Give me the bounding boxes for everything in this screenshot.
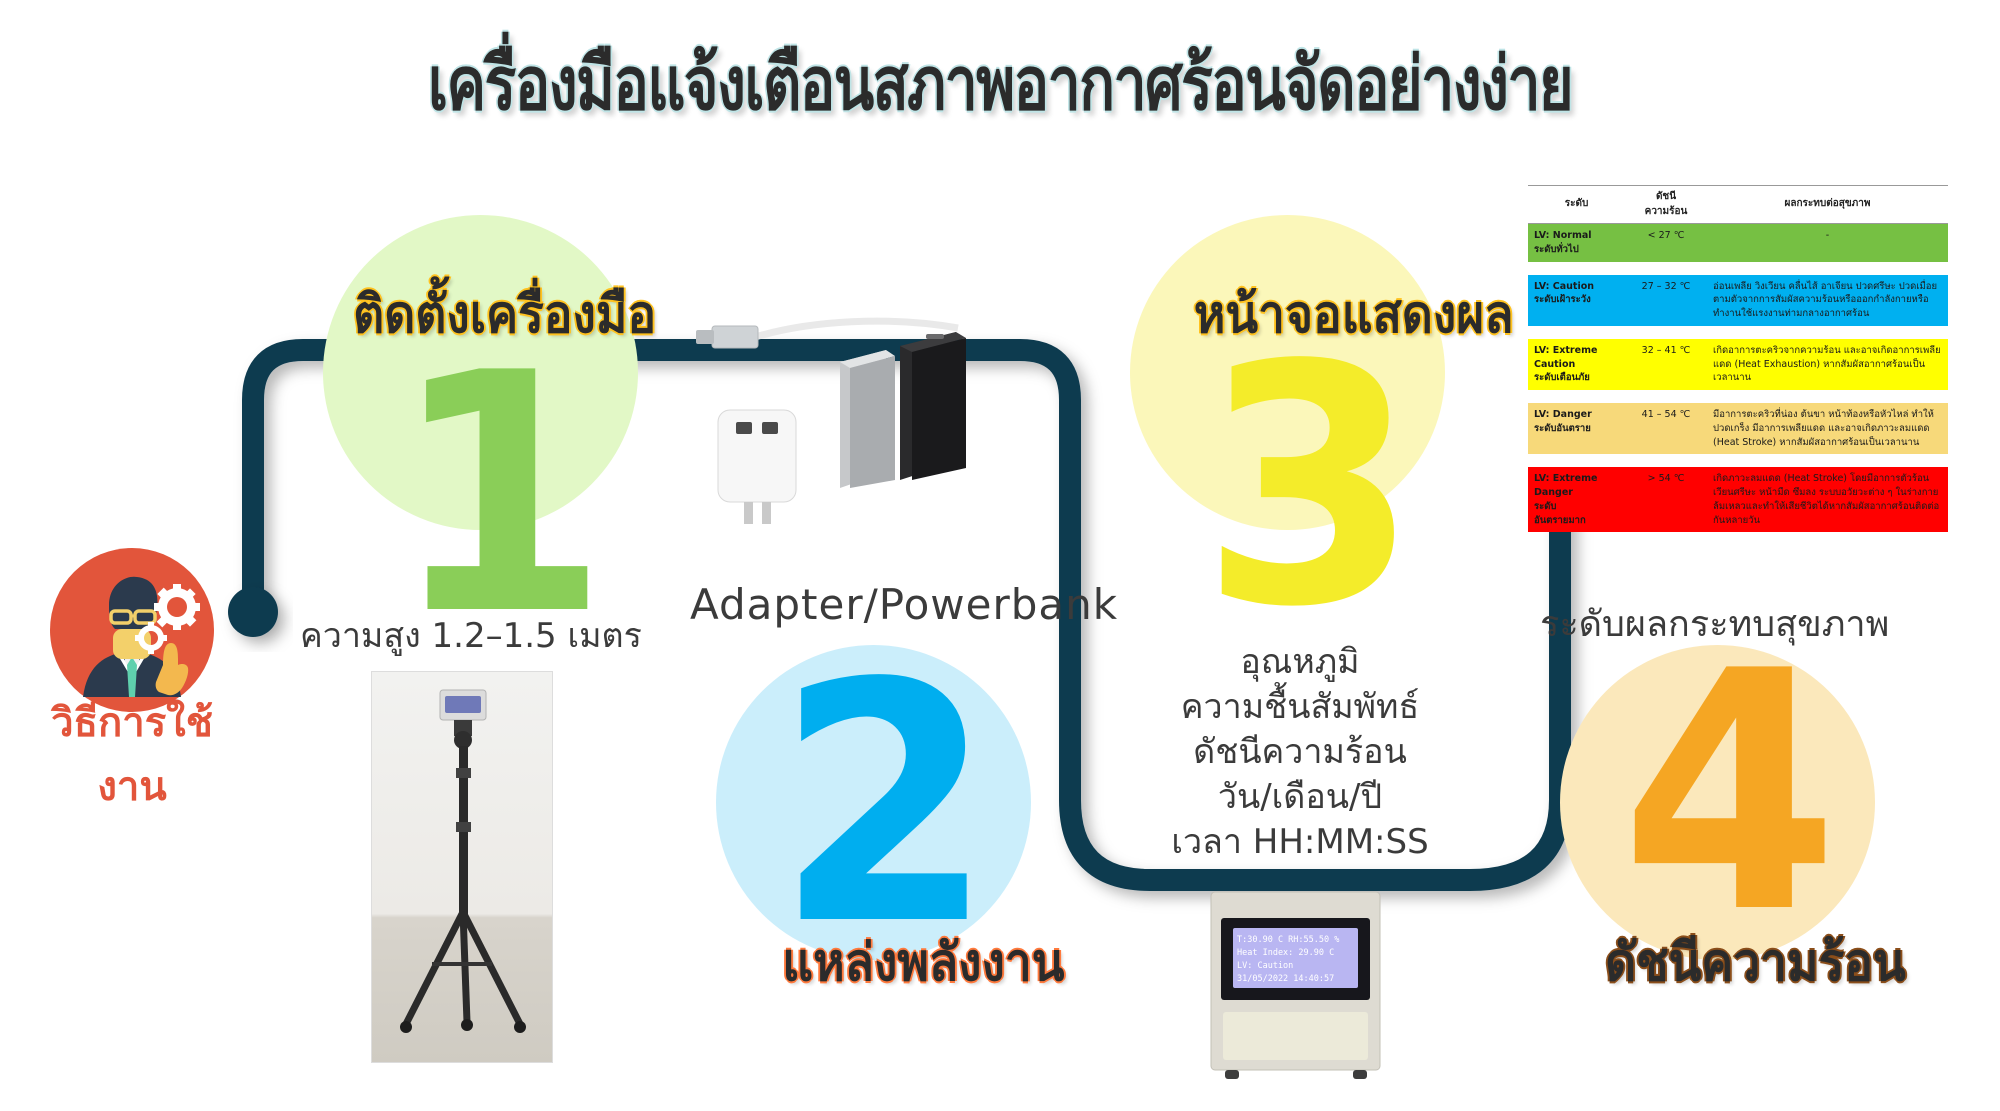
step-1-caption: ความสูง 1.2–1.5 เมตร [300, 608, 642, 662]
table-row: LV: Normal ระดับทั่วไป < 27 ℃ - [1528, 224, 1948, 262]
cell-level: LV: Danger ระดับอันตราย [1528, 403, 1625, 454]
table-row: LV: Danger ระดับอันตราย 41 – 54 ℃ มีอากา… [1528, 403, 1948, 454]
row-separator [1528, 262, 1948, 275]
table-header-row: ระดับ ดัชนี ความร้อน ผลกระทบต่อสุขภาพ [1528, 186, 1948, 224]
device-display-photo: T:30.90 C RH:55.50 % Heat Index: 29.90 C… [1203, 890, 1388, 1085]
step-3-label: หน้าจอแสดงผล [1194, 272, 1514, 355]
page-title: เครื่องมือแจ้งเตือนสภาพอากาศร้อนจัดอย่าง… [200, 24, 1800, 142]
cell-effect: อ่อนเพลีย วิงเวียน คลื่นไส้ อาเจียน ปวดศ… [1707, 275, 1948, 326]
step-3-number: 3 [1201, 322, 1419, 652]
cell-level: LV: Caution ระดับเฝ้าระวัง [1528, 275, 1625, 326]
step-2-caption: Adapter/Powerbank [690, 580, 1118, 629]
table-row: LV: Extreme Caution ระดับเตือนภัย 32 – 4… [1528, 339, 1948, 390]
step-4-caption: ระดับผลกระทบสุขภาพ [1540, 595, 1889, 652]
cell-index: 41 – 54 ℃ [1625, 403, 1707, 454]
display-line-1: T:30.90 C RH:55.50 % [1237, 935, 1339, 945]
cell-index: 27 – 32 ℃ [1625, 275, 1707, 326]
step-4-label: ดัชนีความร้อน [1605, 920, 1906, 1003]
th-effect: ผลกระทบต่อสุขภาพ [1707, 186, 1948, 224]
cell-effect: เกิดภาวะลมแดด (Heat Stroke) โดยมีอาการตั… [1707, 467, 1948, 532]
tripod-photo [372, 672, 552, 1062]
row-separator [1528, 326, 1948, 339]
display-line-3: LV: Caution [1237, 961, 1293, 971]
cell-index: 32 – 41 ℃ [1625, 339, 1707, 390]
step-3-caption: อุณหภูมิ ความชื้นสัมพัทธ์ ดัชนีความร้อน … [1155, 640, 1445, 865]
th-level: ระดับ [1528, 186, 1625, 224]
step-2-label: แหล่งพลังงาน [782, 920, 1064, 1003]
display-line-4: 31/05/2022 14:40:57 [1237, 974, 1334, 984]
cell-effect: เกิดอาการตะคริวจากความร้อน และอาจเกิดอาก… [1707, 339, 1948, 390]
cell-effect: มีอาการตะคริวที่น่อง ต้นขา หน้าท้องหรือห… [1707, 403, 1948, 454]
cell-effect: - [1707, 224, 1948, 262]
cell-index: < 27 ℃ [1625, 224, 1707, 262]
display-line-2: Heat Index: 29.90 C [1237, 948, 1334, 958]
table-row: LV: Extreme Danger ระดับ อันตรายมาก > 54… [1528, 467, 1948, 532]
table-row: LV: Caution ระดับเฝ้าระวัง 27 – 32 ℃ อ่อ… [1528, 275, 1948, 326]
entry-label: วิธีการใช้งาน [22, 690, 242, 818]
cell-level: LV: Normal ระดับทั่วไป [1528, 224, 1625, 262]
cell-level: LV: Extreme Caution ระดับเตือนภัย [1528, 339, 1625, 390]
cell-index: > 54 ℃ [1625, 467, 1707, 532]
step-4-number: 4 [1621, 628, 1839, 958]
th-index: ดัชนี ความร้อน [1625, 186, 1707, 224]
adapter-powerbank-photo [690, 310, 1040, 560]
row-separator [1528, 454, 1948, 467]
step-1-label: ติดตั้งเครื่องมือ [353, 272, 656, 355]
heat-index-table: ระดับ ดัชนี ความร้อน ผลกระทบต่อสุขภาพ LV… [1528, 185, 1948, 532]
row-separator [1528, 390, 1948, 403]
cell-level: LV: Extreme Danger ระดับ อันตรายมาก [1528, 467, 1625, 532]
